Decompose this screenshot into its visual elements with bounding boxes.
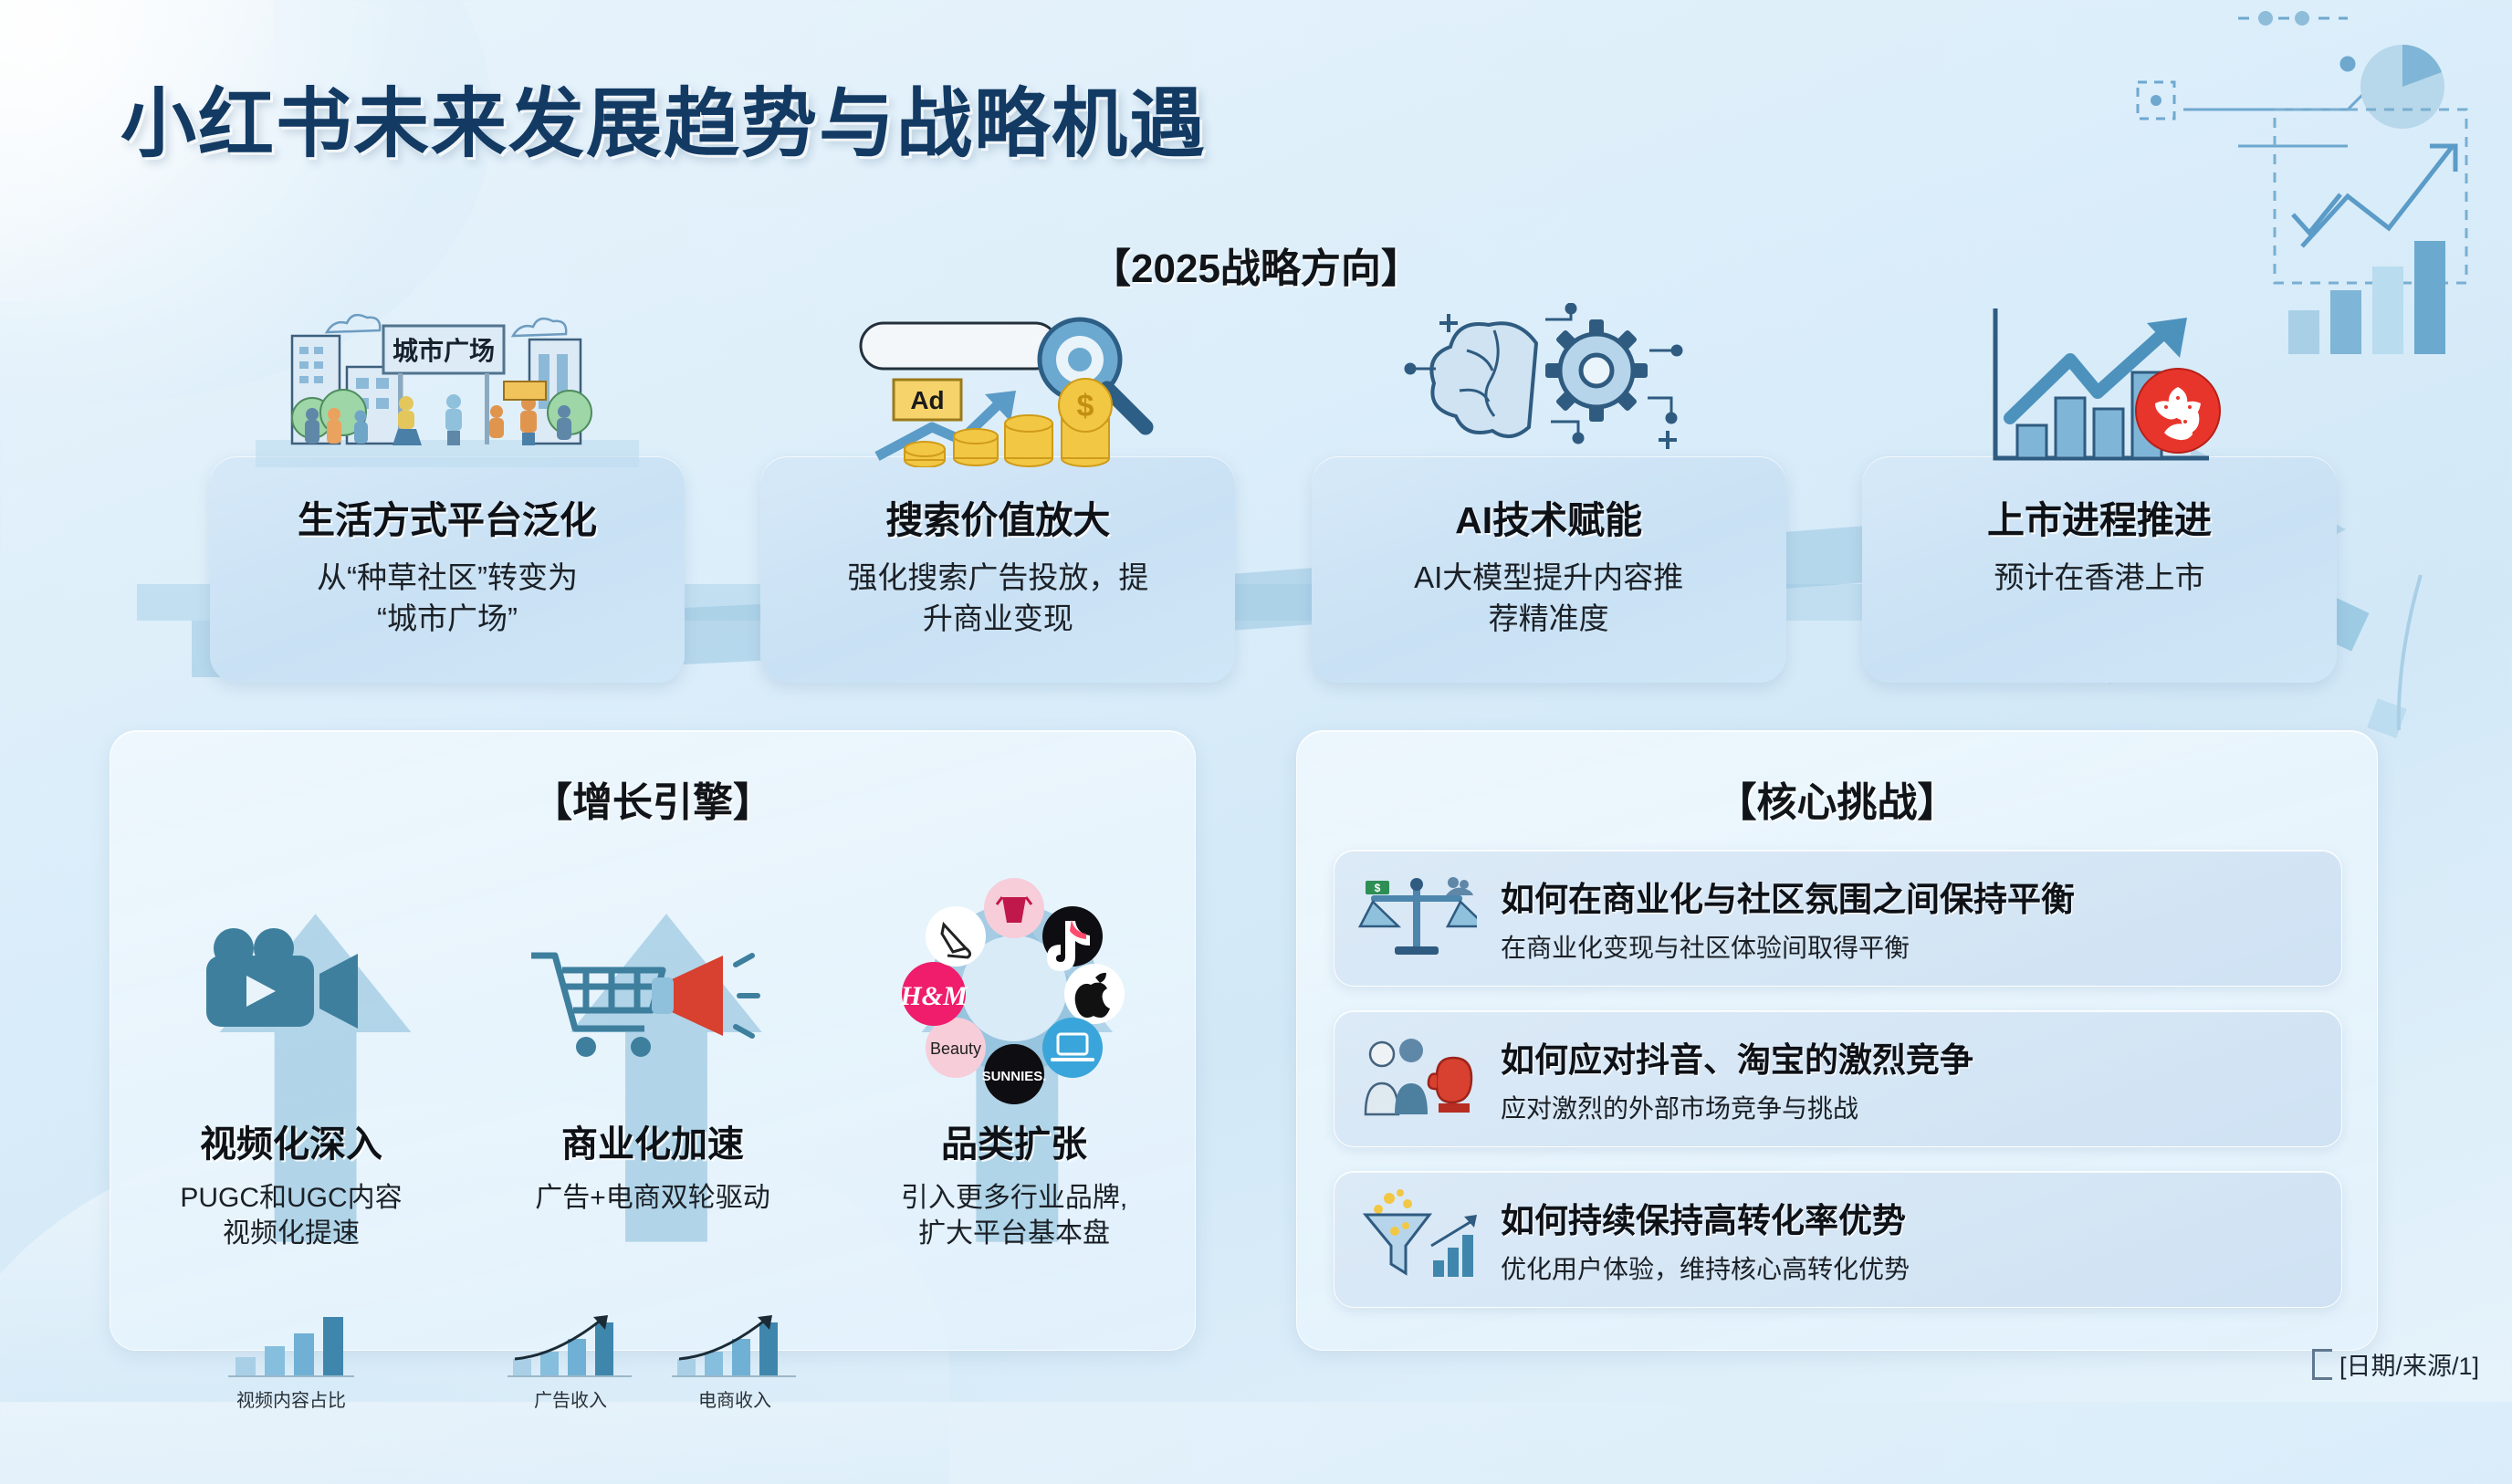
svg-text:H&M: H&M bbox=[899, 981, 968, 1011]
strategy-card-lifestyle[interactable]: 城市广场 生活方式 bbox=[210, 456, 685, 683]
strategy-card-desc: 预计在香港上市 bbox=[1964, 558, 2234, 599]
challenge-competition[interactable]: 如何应对抖音、淘宝的激烈竞争 应对激烈的外部市场竞争与挑战 bbox=[1334, 1010, 2342, 1147]
engine-art: SUNNIES. Beauty H&M bbox=[845, 868, 1183, 1114]
strategy-card-desc: 从“种草社区”转变为“城市广场” bbox=[288, 558, 607, 639]
mini-chart-label: 广告收入 bbox=[504, 1385, 637, 1412]
strategy-heading: 【2025战略方向】 bbox=[0, 235, 2512, 294]
engine-art bbox=[122, 868, 460, 1114]
engine-title: 视频化深入 bbox=[200, 1114, 382, 1167]
mini-chart: 广告收入 bbox=[504, 1312, 637, 1412]
engine-desc: 广告+电商双轮驱动 bbox=[535, 1180, 770, 1216]
svg-text:SUNNIES.: SUNNIES. bbox=[982, 1069, 1047, 1084]
engine-title: 商业化加速 bbox=[561, 1114, 744, 1167]
strategy-card-title: 上市进程推进 bbox=[1987, 500, 2212, 541]
challenge-desc: 应对激烈的外部市场竞争与挑战 bbox=[1501, 1089, 1973, 1125]
footer-text: [日期/来源/1] bbox=[2339, 1346, 2479, 1382]
growth-engine-panel: 【增长引擎】 视频化深入 bbox=[110, 730, 1196, 1351]
engine-desc: PUGC和UGC内容视频化提速 bbox=[180, 1180, 402, 1251]
mini-chart: 电商收入 bbox=[668, 1312, 801, 1412]
svg-text:城市广场: 城市广场 bbox=[392, 336, 495, 365]
apple-icon bbox=[1064, 964, 1125, 1024]
growth-engine-category[interactable]: SUNNIES. Beauty H&M 品类扩张 引入更多行业品牌,扩大平台基本… bbox=[845, 868, 1183, 1324]
challenge-text: 如何应对抖音、淘宝的激烈竞争 应对激烈的外部市场竞争与挑战 bbox=[1501, 1032, 1973, 1125]
strategy-card-title: 搜索价值放大 bbox=[885, 500, 1110, 541]
ai-brain-gear-illustration bbox=[1357, 303, 1741, 467]
growth-engine-commercialization[interactable]: 商业化加速 广告+电商双轮驱动 广告收入 bbox=[484, 868, 822, 1324]
growth-engine-video[interactable]: 视频化深入 PUGC和UGC内容视频化提速 视频内容占比 bbox=[122, 868, 460, 1324]
engine-title: 品类扩张 bbox=[941, 1114, 1087, 1167]
challenge-list: $ 如何在商业化与社区氛围之间保持平衡 在商业化变现与社区体验间取得平衡 bbox=[1334, 850, 2342, 1332]
shoe-icon bbox=[926, 906, 986, 967]
growth-engine-list: 视频化深入 PUGC和UGC内容视频化提速 视频内容占比 bbox=[110, 868, 1195, 1324]
challenge-conversion[interactable]: 如何持续保持高转化率优势 优化用户体验，维持核心高转化优势 bbox=[1334, 1171, 2342, 1308]
strategy-card-search[interactable]: Ad $ 搜索价值放大 强化搜索广告投放，提升 bbox=[760, 456, 1235, 683]
brand-category-wheel-icon: SUNNIES. Beauty H&M bbox=[845, 868, 1183, 1114]
core-challenges-heading: 【核心挑战】 bbox=[1297, 769, 2377, 828]
mini-chart-label: 视频内容占比 bbox=[223, 1385, 360, 1412]
mini-chart-label: 电商收入 bbox=[668, 1385, 801, 1412]
engine-mini-charts: 视频内容占比 bbox=[122, 1312, 460, 1412]
challenge-title: 如何应对抖音、淘宝的激烈竞争 bbox=[1501, 1032, 1973, 1082]
hongkong-flag-icon bbox=[2136, 369, 2220, 453]
core-challenges-panel: 【核心挑战】 $ 如何在商业化与社区氛围之间保持平衡 在商业化变现与社区体验间取… bbox=[1296, 730, 2378, 1351]
challenge-balance[interactable]: $ 如何在商业化与社区氛围之间保持平衡 在商业化变现与社区体验间取得平衡 bbox=[1334, 850, 2342, 987]
svg-text:$: $ bbox=[1375, 882, 1381, 894]
balance-scale-icon: $ bbox=[1358, 868, 1477, 968]
engine-art bbox=[484, 868, 822, 1114]
dress-icon bbox=[984, 878, 1044, 938]
mini-bar-chart-with-trend bbox=[504, 1312, 637, 1379]
footer-bracket-icon bbox=[2312, 1349, 2332, 1380]
search-ad-monetization-illustration: Ad $ bbox=[806, 303, 1189, 467]
engine-desc: 引入更多行业品牌,扩大平台基本盘 bbox=[901, 1180, 1127, 1251]
mini-bar-chart bbox=[223, 1312, 360, 1379]
beauty-brand: Beauty bbox=[926, 1018, 986, 1078]
growth-engine-heading: 【增长引擎】 bbox=[110, 769, 1195, 828]
strategy-card-ipo[interactable]: 上市进程推进 预计在香港上市 bbox=[1862, 456, 2337, 683]
ipo-growth-chart-hongkong-illustration bbox=[1908, 303, 2291, 467]
svg-text:Beauty: Beauty bbox=[930, 1040, 981, 1058]
conversion-funnel-icon bbox=[1358, 1189, 1477, 1290]
svg-text:Ad: Ad bbox=[911, 386, 945, 414]
strategy-card-ai[interactable]: AI技术赋能 AI大模型提升内容推荐精准度 bbox=[1312, 456, 1786, 683]
challenge-desc: 优化用户体验，维持核心高转化优势 bbox=[1501, 1249, 1910, 1286]
challenge-title: 如何在商业化与社区氛围之间保持平衡 bbox=[1501, 872, 2075, 921]
strategy-card-title: 生活方式平台泛化 bbox=[298, 500, 597, 541]
competition-boxing-glove-icon bbox=[1358, 1029, 1477, 1129]
laptop-icon bbox=[1042, 1018, 1103, 1078]
strategy-card-title: AI技术赋能 bbox=[1455, 500, 1642, 541]
mini-bar-chart-with-trend bbox=[668, 1312, 801, 1379]
challenge-text: 如何在商业化与社区氛围之间保持平衡 在商业化变现与社区体验间取得平衡 bbox=[1501, 872, 2075, 965]
mini-chart: 视频内容占比 bbox=[223, 1312, 360, 1412]
challenge-desc: 在商业化变现与社区体验间取得平衡 bbox=[1501, 928, 2075, 965]
strategy-card-desc: 强化搜索广告投放，提升商业变现 bbox=[818, 558, 1177, 639]
footer: [日期/来源/1] bbox=[2312, 1346, 2479, 1382]
strategy-card-row: 城市广场 生活方式 bbox=[210, 456, 2337, 685]
video-camera-icon bbox=[122, 868, 460, 1114]
challenge-text: 如何持续保持高转化率优势 优化用户体验，维持核心高转化优势 bbox=[1501, 1193, 1910, 1286]
challenge-title: 如何持续保持高转化率优势 bbox=[1501, 1193, 1910, 1242]
engine-mini-charts: 广告收入 电商收入 bbox=[484, 1312, 822, 1412]
page-title: 小红书未来发展趋势与战略机遇 bbox=[120, 62, 1207, 172]
decorative-pie-icon bbox=[2360, 45, 2444, 129]
strategy-card-desc: AI大模型提升内容推荐精准度 bbox=[1385, 558, 1712, 639]
city-plaza-illustration: 城市广场 bbox=[256, 303, 639, 467]
tiktok-icon bbox=[1042, 906, 1103, 971]
shopping-cart-megaphone-icon bbox=[484, 868, 822, 1114]
svg-text:$: $ bbox=[1077, 389, 1094, 423]
